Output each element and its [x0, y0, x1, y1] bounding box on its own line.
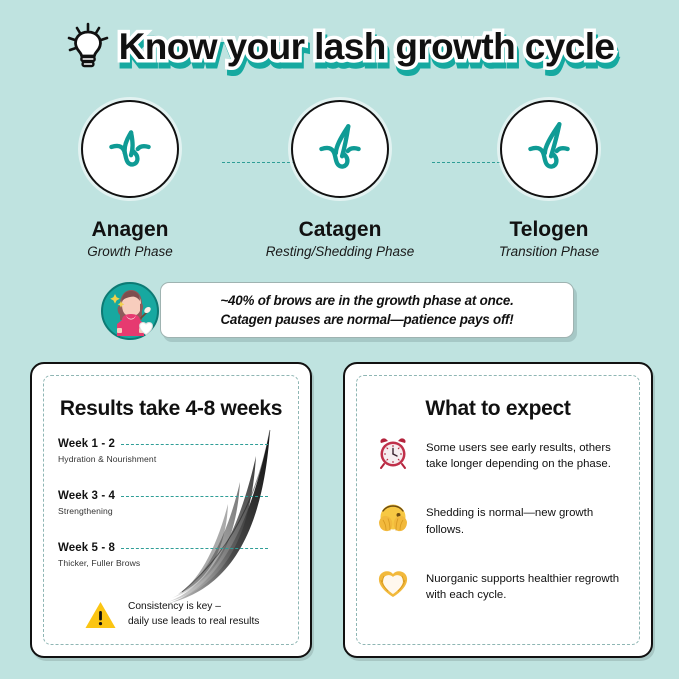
week-dashed-line: [121, 548, 268, 549]
phase-name: Telogen: [459, 218, 639, 241]
infographic-page: Know your lash growth cycle Know your la…: [0, 0, 679, 679]
results-card: Results take 4-8 weeks: [30, 362, 312, 658]
week-detail: Thicker, Fuller Brows: [58, 558, 268, 568]
callout-box: ~40% of brows are in the growth phase at…: [160, 282, 574, 338]
callout-line-1: ~40% of brows are in the growth phase at…: [220, 291, 513, 310]
consistency-note-text: Consistency is key – daily use leads to …: [128, 600, 259, 630]
week-item: Week 5 - 8 Thicker, Fuller Brows: [58, 542, 268, 568]
callout-banner: ~40% of brows are in the growth phase at…: [100, 280, 572, 342]
expect-item: Some users see early results, others tak…: [373, 436, 629, 472]
week-item: Week 3 - 4 Strengthening: [58, 490, 268, 516]
week-dashed-line: [121, 444, 268, 445]
phase-anagen: Anagen Growth Phase: [40, 100, 220, 260]
lightbulb-icon: [65, 22, 111, 70]
phase-subtitle: Transition Phase: [459, 244, 639, 260]
woman-with-brush-avatar: [100, 280, 162, 342]
expect-item-text: Some users see early results, others tak…: [426, 436, 629, 472]
consistency-note-line-2: daily use leads to real results: [128, 615, 259, 630]
weeks-list: Week 1 - 2 Hydration & Nourishment Week …: [58, 438, 268, 594]
consistency-note: Consistency is key – daily use leads to …: [84, 600, 284, 630]
phase-telogen: Telogen Transition Phase: [459, 100, 639, 260]
expect-list: Some users see early results, others tak…: [373, 436, 629, 632]
phase-subtitle: Resting/Shedding Phase: [250, 244, 430, 260]
phase-catagen: Catagen Resting/Shedding Phase: [250, 100, 430, 260]
phase-icon-circle: [81, 100, 179, 198]
week-label: Week 5 - 8: [58, 542, 115, 554]
header-banner: Know your lash growth cycle Know your la…: [0, 22, 679, 70]
alarm-clock-emoji: [373, 436, 413, 470]
week-label: Week 3 - 4: [58, 490, 115, 502]
results-card-title: Results take 4-8 weeks: [32, 397, 310, 421]
phase-name: Catagen: [250, 218, 430, 241]
page-title: Know your lash growth cycle: [119, 28, 615, 65]
page-title-stack: Know your lash growth cycle Know your la…: [119, 28, 615, 65]
phase-icon-circle: [500, 100, 598, 198]
week-item: Week 1 - 2 Hydration & Nourishment: [58, 438, 268, 464]
expect-card-title: What to expect: [345, 397, 651, 421]
consistency-note-line-1: Consistency is key –: [128, 600, 259, 615]
expect-item: Shedding is normal—new growth follows.: [373, 501, 629, 537]
expect-item: Nuorganic supports healthier regrowth wi…: [373, 567, 629, 603]
expect-card: What to expect: [343, 362, 653, 658]
phase-subtitle: Growth Phase: [40, 244, 220, 260]
week-dashed-line: [121, 496, 268, 497]
hair-follicle-icon: [99, 118, 161, 180]
phase-row: Anagen Growth Phase Catagen Resting/Shed…: [40, 100, 639, 265]
week-label: Week 1 - 2: [58, 438, 115, 450]
heart-hands-emoji: [373, 567, 413, 601]
warning-triangle-icon: [84, 600, 117, 630]
hair-follicle-icon: [518, 118, 580, 180]
week-detail: Hydration & Nourishment: [58, 454, 268, 464]
expect-item-text: Nuorganic supports healthier regrowth wi…: [426, 567, 629, 603]
expect-item-text: Shedding is normal—new growth follows.: [426, 501, 629, 537]
phase-icon-circle: [291, 100, 389, 198]
hair-follicle-icon: [309, 118, 371, 180]
face-with-peeking-eye-emoji: [373, 501, 413, 535]
callout-line-2: Catagen pauses are normal—patience pays …: [220, 310, 513, 329]
week-detail: Strengthening: [58, 506, 268, 516]
phase-name: Anagen: [40, 218, 220, 241]
